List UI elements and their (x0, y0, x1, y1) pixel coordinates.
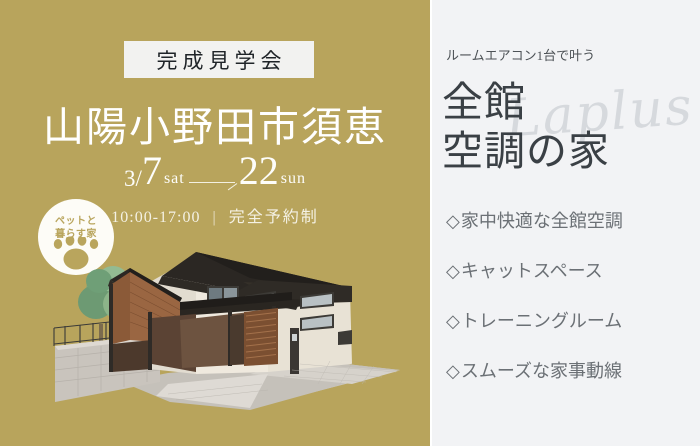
list-item: ◇トレーニングルーム (446, 307, 700, 333)
feature-list: ◇家中快適な全館空調 ◇キャットスペース ◇トレーニングルーム ◇スムーズな家事… (446, 207, 700, 407)
right-info-panel: ルームエアコン1台で叶う Laplus 全館 空調の家 ◇家中快適な全館空調 ◇… (432, 0, 700, 446)
panel-kicker: ルームエアコン1台で叶う (446, 45, 595, 64)
feature-label: トレーニングルーム (461, 311, 622, 331)
diamond-bullet-icon: ◇ (446, 261, 461, 281)
list-item: ◇スムーズな家事動線 (446, 357, 700, 383)
feature-label: 家中快適な全館空調 (461, 211, 623, 231)
date-start-day: 7 (142, 152, 162, 190)
wood-slat-screen (244, 308, 278, 366)
feature-label: キャットスペース (461, 261, 603, 281)
date-start-dow: sat (162, 171, 185, 190)
event-type-label: 完成見学会 (152, 45, 287, 75)
mail-post (290, 328, 299, 374)
date-month-prefix: 3/ (124, 167, 142, 190)
panel-headline: 全館 空調の家 (442, 78, 610, 176)
location-title: 山陽小野田市須恵 (0, 93, 430, 153)
event-banner: 完成見学会 山陽小野田市須恵 3/ 7 sat 22 sun 10:00-17:… (0, 0, 700, 446)
feature-label: スムーズな家事動線 (461, 361, 622, 381)
event-date-range: 3/ 7 sat 22 sun (0, 152, 430, 190)
date-end-day: 22 (239, 152, 279, 190)
diamond-bullet-icon: ◇ (446, 211, 461, 231)
house-exterior-render (0, 224, 430, 446)
panel-headline-line2: 空調の家 (442, 127, 610, 176)
left-gold-panel: 完成見学会 山陽小野田市須恵 3/ 7 sat 22 sun 10:00-17:… (0, 0, 430, 446)
list-item: ◇キャットスペース (446, 257, 700, 283)
panel-headline-line1: 全館 (442, 78, 610, 127)
event-type-badge: 完成見学会 (124, 41, 314, 78)
date-end-dow: sun (279, 171, 306, 190)
diamond-bullet-icon: ◇ (446, 361, 461, 381)
diamond-bullet-icon: ◇ (446, 311, 461, 331)
list-item: ◇家中快適な全館空調 (446, 207, 700, 233)
date-arrow-icon (189, 169, 237, 185)
